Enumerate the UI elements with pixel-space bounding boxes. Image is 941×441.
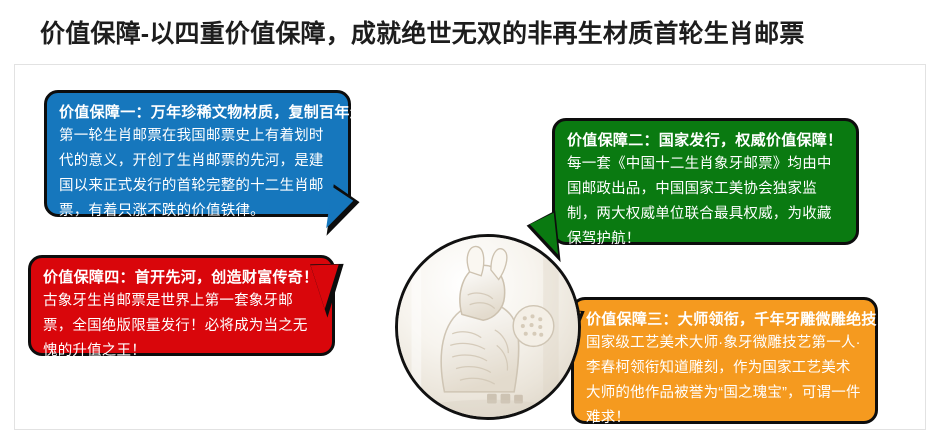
callout-two-body: 每一套《中国十二生肖象牙邮票》均由中国邮政出品，中国国家工美协会独家监制，两大权…: [567, 152, 844, 252]
callout-one-body: 第一轮生肖邮票在我国邮票史上有着划时代的意义，开创了生肖邮票的先河，是建国以来正…: [59, 124, 336, 224]
page-title: 价值保障-以四重价值保障，成就绝世无双的非再生材质首轮生肖邮票: [40, 14, 920, 54]
callout-two-title: 价值保障二：国家发行，权威价值保障！: [567, 130, 844, 152]
callout-four-title: 价值保障四：首开先河，创造财富传奇！: [43, 267, 320, 289]
ivory-carving-illustration: [398, 237, 578, 417]
callout-guarantee-three: 价值保障三：大师领衔，千年牙雕微雕绝技！ 国家级工艺美术大师·象牙微雕技艺第一人…: [571, 297, 878, 424]
callout-three-body: 国家级工艺美术大师·象牙微雕技艺第一人·李春柯领衔知道雕刻，作为国家工艺美术大师…: [586, 331, 863, 431]
callout-one-title: 价值保障一：万年珍稀文物材质，复制百年生肖邮票！: [59, 102, 336, 124]
callout-guarantee-one: 价值保障一：万年珍稀文物材质，复制百年生肖邮票！ 第一轮生肖邮票在我国邮票史上有…: [44, 90, 351, 217]
callout-guarantee-four: 价值保障四：首开先河，创造财富传奇！ 古象牙生肖邮票是世界上第一套象牙邮票，全国…: [28, 255, 335, 356]
callout-guarantee-two: 价值保障二：国家发行，权威价值保障！ 每一套《中国十二生肖象牙邮票》均由中国邮政…: [552, 118, 859, 245]
callout-three-title: 价值保障三：大师领衔，千年牙雕微雕绝技！: [586, 309, 863, 331]
callout-four-body: 古象牙生肖邮票是世界上第一套象牙邮票，全国绝版限量发行！必将成为当之无愧的升值之…: [43, 289, 320, 364]
center-artifact-image: [395, 234, 581, 420]
promo-infographic-page: 价值保障-以四重价值保障，成就绝世无双的非再生材质首轮生肖邮票: [0, 0, 941, 441]
